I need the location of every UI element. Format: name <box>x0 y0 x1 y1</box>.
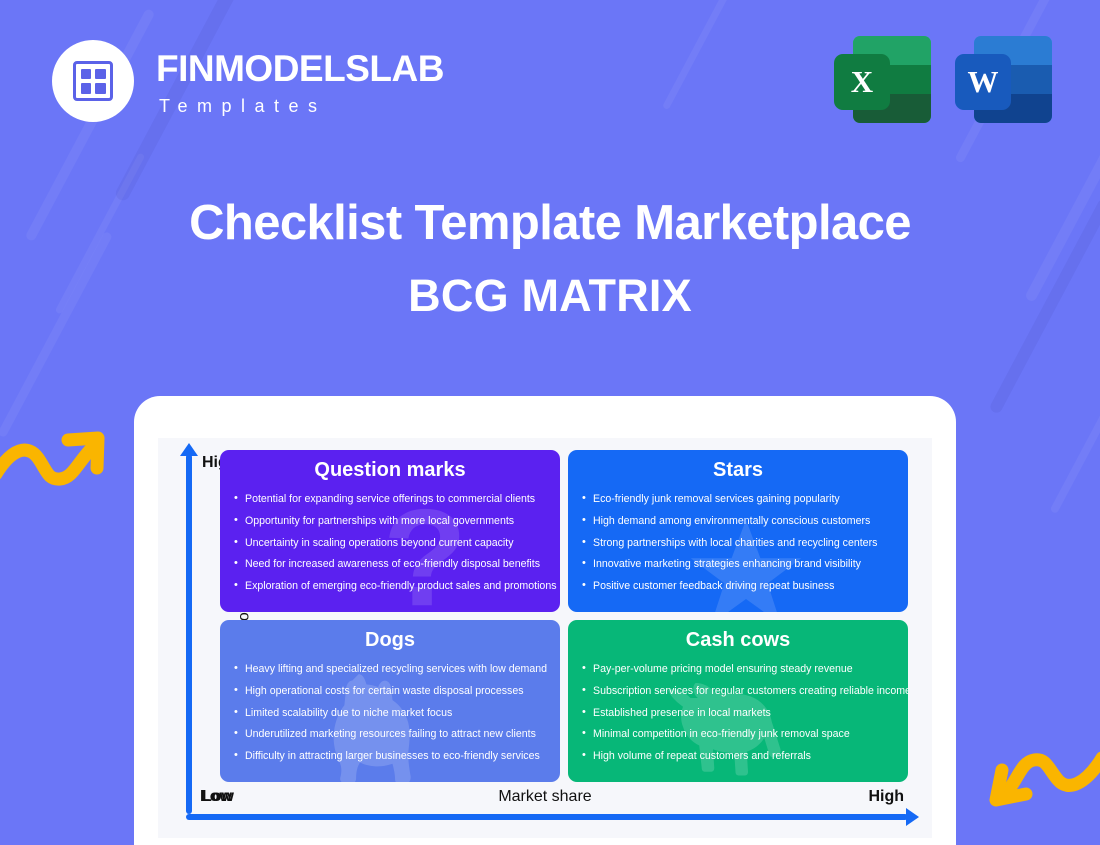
grid-icon <box>73 61 113 101</box>
quadrant-cash-cows[interactable]: Cash cows Pay-per-volume pricing model e… <box>568 620 908 782</box>
quadrant-question-marks[interactable]: ? Question marks Potential for expanding… <box>220 450 560 612</box>
brand-tagline: Templates <box>156 97 444 115</box>
list-item: Opportunity for partnerships with more l… <box>232 514 548 528</box>
word-badge-letter: W <box>955 54 1011 110</box>
brand-name: FINMODELSLAB <box>156 50 444 87</box>
list-item: Heavy lifting and specialized recycling … <box>232 662 548 676</box>
list-item: Underutilized marketing resources failin… <box>232 727 548 741</box>
excel-badge-letter: X <box>834 54 890 110</box>
word-icon[interactable]: W <box>955 28 1052 123</box>
quadrant-items: Eco-friendly junk removal services gaini… <box>580 492 896 593</box>
list-item: Subscription services for regular custom… <box>580 684 896 698</box>
x-axis-low-label: Low <box>200 788 232 806</box>
list-item: High volume of repeat customers and refe… <box>580 749 896 763</box>
quadrant-items: Heavy lifting and specialized recycling … <box>232 662 548 763</box>
list-item: Eco-friendly junk removal services gaini… <box>580 492 896 506</box>
squiggle-arrow-down-left-icon <box>968 736 1100 828</box>
list-item: Need for increased awareness of eco-frie… <box>232 557 548 571</box>
list-item: Strong partnerships with local charities… <box>580 536 896 550</box>
list-item: High operational costs for certain waste… <box>232 684 548 698</box>
quadrant-title: Dogs <box>232 629 548 652</box>
page-subtitle: BCG MATRIX <box>0 271 1100 321</box>
list-item: Minimal competition in eco-friendly junk… <box>580 727 896 741</box>
bcg-matrix: Market growth High Low Market share Low … <box>158 438 932 838</box>
list-item: High demand among environmentally consci… <box>580 514 896 528</box>
list-item: Potential for expanding service offering… <box>232 492 548 506</box>
list-item: Limited scalability due to niche market … <box>232 706 548 720</box>
page-header: FINMODELSLAB Templates X W <box>0 0 1100 160</box>
quadrant-dogs[interactable]: Dogs Heavy lifting and specialized recyc… <box>220 620 560 782</box>
quadrant-items: Pay-per-volume pricing model ensuring st… <box>580 662 896 763</box>
x-axis-title: Market share <box>158 788 932 806</box>
quadrant-title: Question marks <box>232 459 548 482</box>
quadrant-items: Potential for expanding service offering… <box>232 492 548 593</box>
list-item: Innovative marketing strategies enhancin… <box>580 557 896 571</box>
page-title: Checklist Template Marketplace <box>0 196 1100 251</box>
list-item: Difficulty in attracting larger business… <box>232 749 548 763</box>
quadrant-stars[interactable]: Stars Eco-friendly junk removal services… <box>568 450 908 612</box>
brand-logo[interactable]: FINMODELSLAB Templates <box>52 40 444 122</box>
excel-icon[interactable]: X <box>834 28 931 123</box>
y-axis <box>186 454 192 814</box>
list-item: Positive customer feedback driving repea… <box>580 579 896 593</box>
quadrant-title: Stars <box>580 459 896 482</box>
logo-badge <box>52 40 134 122</box>
brand-text: FINMODELSLAB Templates <box>156 48 444 115</box>
squiggle-arrow-up-right-icon <box>0 404 126 488</box>
list-item: Exploration of emerging eco-friendly pro… <box>232 579 548 593</box>
x-axis <box>186 814 908 820</box>
list-item: Pay-per-volume pricing model ensuring st… <box>580 662 896 676</box>
x-axis-high-label: High <box>868 788 904 806</box>
quadrant-title: Cash cows <box>580 629 896 652</box>
title-block: Checklist Template Marketplace BCG MATRI… <box>0 196 1100 320</box>
format-icons: X W <box>834 28 1052 123</box>
matrix-card: Market growth High Low Market share Low … <box>134 396 956 845</box>
list-item: Uncertainty in scaling operations beyond… <box>232 536 548 550</box>
list-item: Established presence in local markets <box>580 706 896 720</box>
quadrant-grid: ? Question marks Potential for expanding… <box>220 450 908 782</box>
